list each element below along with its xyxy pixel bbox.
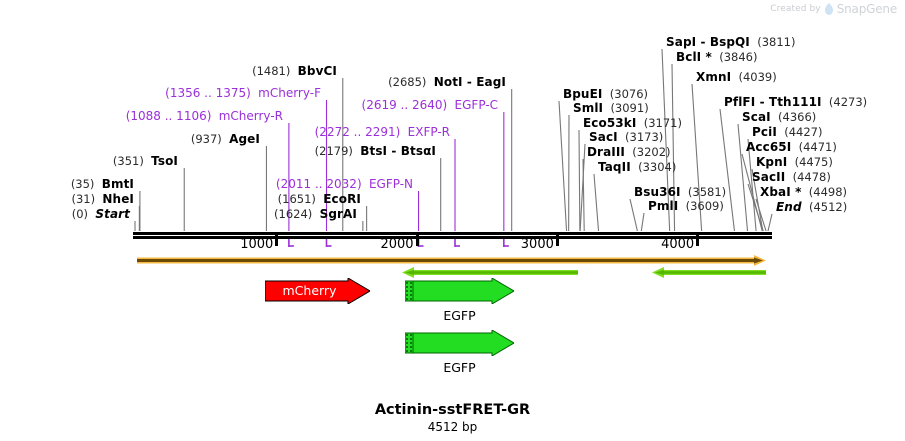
pcii-label: PciI (4427) — [752, 126, 822, 138]
label-enzyme-name: NheI — [102, 192, 134, 206]
label-position: (3581) — [688, 185, 726, 199]
label-position: (2272 .. 2291) — [315, 125, 401, 139]
label-enzyme-name: SacII — [752, 170, 785, 184]
label-enzyme-name: XbaI * — [760, 185, 801, 199]
label-enzyme-name: Acc65I — [746, 140, 791, 154]
plasmid-length: 4512 bp — [0, 420, 905, 434]
label-enzyme-name: ScaI — [742, 110, 771, 124]
snapgene-logo-icon — [825, 3, 833, 15]
egfp-feature-2-label: EGFP — [405, 360, 514, 375]
label-enzyme-name: BbvCI — [298, 64, 337, 78]
nhei-label: (31) NheI — [71, 193, 134, 205]
ruler-tick — [275, 235, 278, 246]
label-position: (1624) — [274, 207, 312, 221]
label-enzyme-name: EGFP-N — [369, 177, 413, 191]
saci-label-leader — [580, 144, 585, 231]
label-position: (4039) — [738, 70, 776, 84]
label-position: (351) — [113, 154, 144, 168]
label-enzyme-name: PmlI — [648, 199, 678, 213]
label-enzyme-name: SapI - BspQI — [666, 35, 750, 49]
label-enzyme-name: Start — [95, 207, 130, 221]
label-position: (4475) — [795, 155, 833, 169]
label-position: (1481) — [252, 64, 290, 78]
eco53ki-label: Eco53kI (3171) — [583, 117, 682, 129]
acc65i-label: Acc65I (4471) — [746, 141, 837, 153]
label-position: (3076) — [610, 87, 648, 101]
backbone-line-upper — [133, 232, 772, 235]
sacii-label: SacII (4478) — [752, 171, 831, 183]
label-enzyme-name: BtsI - BtsαI — [360, 144, 436, 158]
egfp-thin-arrow-2[interactable] — [652, 264, 766, 277]
draiii-label: DraIII (3202) — [587, 146, 671, 158]
label-enzyme-name: BpuEI — [563, 87, 602, 101]
eco53ki-label-leader — [579, 130, 580, 231]
label-position: (1651) — [278, 192, 316, 206]
label-enzyme-name: Eco53kI — [583, 116, 636, 130]
tsoi-label: (351) TsoI — [113, 155, 178, 167]
label-position: (3304) — [638, 160, 676, 174]
label-position: (4366) — [778, 110, 816, 124]
smli-label: SmlI (3091) — [573, 102, 649, 114]
label-position: (3846) — [719, 50, 757, 64]
label-position: (3202) — [632, 145, 670, 159]
bbvci-label: (1481) BbvCI — [252, 65, 337, 77]
scai-label: ScaI (4366) — [742, 111, 816, 123]
ecori-label: (1651) EcoRI — [278, 193, 361, 205]
label-enzyme-name: KpnI — [756, 155, 787, 169]
ruler-tick — [556, 235, 559, 246]
label-enzyme-name: AgeI — [229, 132, 260, 146]
label-enzyme-name: mCherry-F — [258, 86, 321, 100]
label-enzyme-name: End — [776, 200, 802, 214]
watermark-brand: SnapGene — [837, 2, 897, 16]
start-label: (0) Start — [72, 208, 130, 220]
egfp-feature-2[interactable] — [405, 330, 514, 356]
noti-eagi-label: (2685) NotI - EagI — [388, 76, 506, 88]
mcherry-f-primer-label: (1356 .. 1375) mCherry-F — [165, 87, 321, 99]
btsi-btsai-label: (2179) BtsI - BtsαI — [315, 145, 436, 157]
label-position: (4471) — [799, 140, 837, 154]
egfp-feature-1-label: EGFP — [405, 308, 514, 323]
label-enzyme-name: BclI * — [676, 50, 712, 64]
pmli-label-leader — [641, 213, 644, 231]
label-enzyme-name: SgrAI — [320, 207, 357, 221]
end-label: End (4512) — [776, 201, 847, 213]
label-enzyme-name: Bsu36I — [634, 185, 681, 199]
bsu36i-label: Bsu36I (3581) — [634, 186, 726, 198]
mcherry-r-primer-label: (1088 .. 1106) mCherry-R — [126, 110, 283, 122]
label-position: (2619 .. 2640) — [362, 98, 448, 112]
xbai-label-leader — [756, 199, 766, 231]
ruler-tick-label-2000: 2000 — [380, 237, 414, 252]
ruler-tick-label-3000: 3000 — [520, 237, 554, 252]
label-position: (1088 .. 1106) — [126, 109, 212, 123]
bsu36i-label-leader — [630, 199, 637, 231]
label-position: (3171) — [644, 116, 682, 130]
label-position: (4273) — [829, 95, 867, 109]
xbai-label: XbaI * (4498) — [760, 186, 847, 198]
label-enzyme-name: EGFP-C — [455, 98, 498, 112]
label-enzyme-name: TaqII — [598, 160, 631, 174]
snapgene-watermark: Created by SnapGene — [770, 2, 897, 16]
saci-label: SacI (3173) — [589, 131, 663, 143]
taqii-label: TaqII (3304) — [598, 161, 676, 173]
egfp-thin-arrow-1[interactable] — [402, 264, 578, 277]
label-position: (2685) — [388, 75, 426, 89]
page-title: Actinin-sstFRET-GR — [0, 402, 905, 418]
label-enzyme-name: XmnI — [696, 70, 731, 84]
label-enzyme-name: SacI — [589, 130, 618, 144]
label-position: (1356 .. 1375) — [165, 86, 251, 100]
watermark-created-by: Created by — [770, 4, 821, 14]
exfp-r-primer-label: (2272 .. 2291) EXFP-R — [315, 126, 450, 138]
label-position: (3811) — [757, 35, 795, 49]
sapi-bspqi-label: SapI - BspQI (3811) — [666, 36, 795, 48]
egfp-n-primer-label: (2011 .. 2032) EGFP-N — [276, 178, 413, 190]
sgrai-label: (1624) SgrAI — [274, 208, 357, 220]
label-position: (3173) — [625, 130, 663, 144]
label-enzyme-name: PflFI - Tth111I — [724, 95, 822, 109]
end-label-leader — [768, 214, 772, 231]
ruler-tick-label-1000: 1000 — [239, 237, 273, 252]
label-position: (2179) — [315, 144, 353, 158]
taqii-label-leader — [594, 174, 599, 231]
mcherry-feature-label: mCherry — [265, 283, 354, 298]
label-position: (3609) — [686, 199, 724, 213]
snapgene-map-canvas: Created by SnapGene (0) Start(31) NheI(3… — [0, 0, 905, 441]
label-enzyme-name: EXFP-R — [408, 125, 450, 139]
label-enzyme-name: mCherry-R — [219, 109, 283, 123]
label-enzyme-name: PciI — [752, 125, 777, 139]
label-position: (4427) — [784, 125, 822, 139]
draiii-label-leader — [583, 159, 584, 231]
xmni-label: XmnI (4039) — [696, 71, 777, 83]
bpuei-label: BpuEI (3076) — [563, 88, 648, 100]
label-position: (4498) — [809, 185, 847, 199]
label-position: (31) — [71, 192, 95, 206]
label-position: (4478) — [793, 170, 831, 184]
label-position: (937) — [191, 132, 222, 146]
label-position: (0) — [72, 207, 88, 221]
bclii-label: BclI * (3846) — [676, 51, 757, 63]
label-position: (2011 .. 2032) — [276, 177, 362, 191]
label-position: (4512) — [809, 200, 847, 214]
ruler-tick — [416, 235, 419, 246]
kpni-label: KpnI (4475) — [756, 156, 833, 168]
label-position: (3091) — [610, 101, 648, 115]
ruler-tick-label-4000: 4000 — [660, 237, 694, 252]
ruler-tick — [696, 235, 699, 246]
label-enzyme-name: BmtI — [102, 177, 134, 191]
label-enzyme-name: SmlI — [573, 101, 603, 115]
pflfi-tth111i-label: PflFI - Tth111I (4273) — [724, 96, 867, 108]
label-enzyme-name: EcoRI — [323, 192, 361, 206]
bpuei-label-leader — [559, 101, 567, 231]
agei-label: (937) AgeI — [191, 133, 260, 145]
label-enzyme-name: TsoI — [151, 154, 178, 168]
label-enzyme-name: DraIII — [587, 145, 625, 159]
egfp-c-primer-label: (2619 .. 2640) EGFP-C — [362, 99, 498, 111]
egfp-feature-1[interactable] — [405, 278, 514, 304]
pmli-label: PmlI (3609) — [648, 200, 724, 212]
label-enzyme-name: NotI - EagI — [434, 75, 506, 89]
label-position: (35) — [71, 177, 95, 191]
bmti-label: (35) BmtI — [71, 178, 134, 190]
